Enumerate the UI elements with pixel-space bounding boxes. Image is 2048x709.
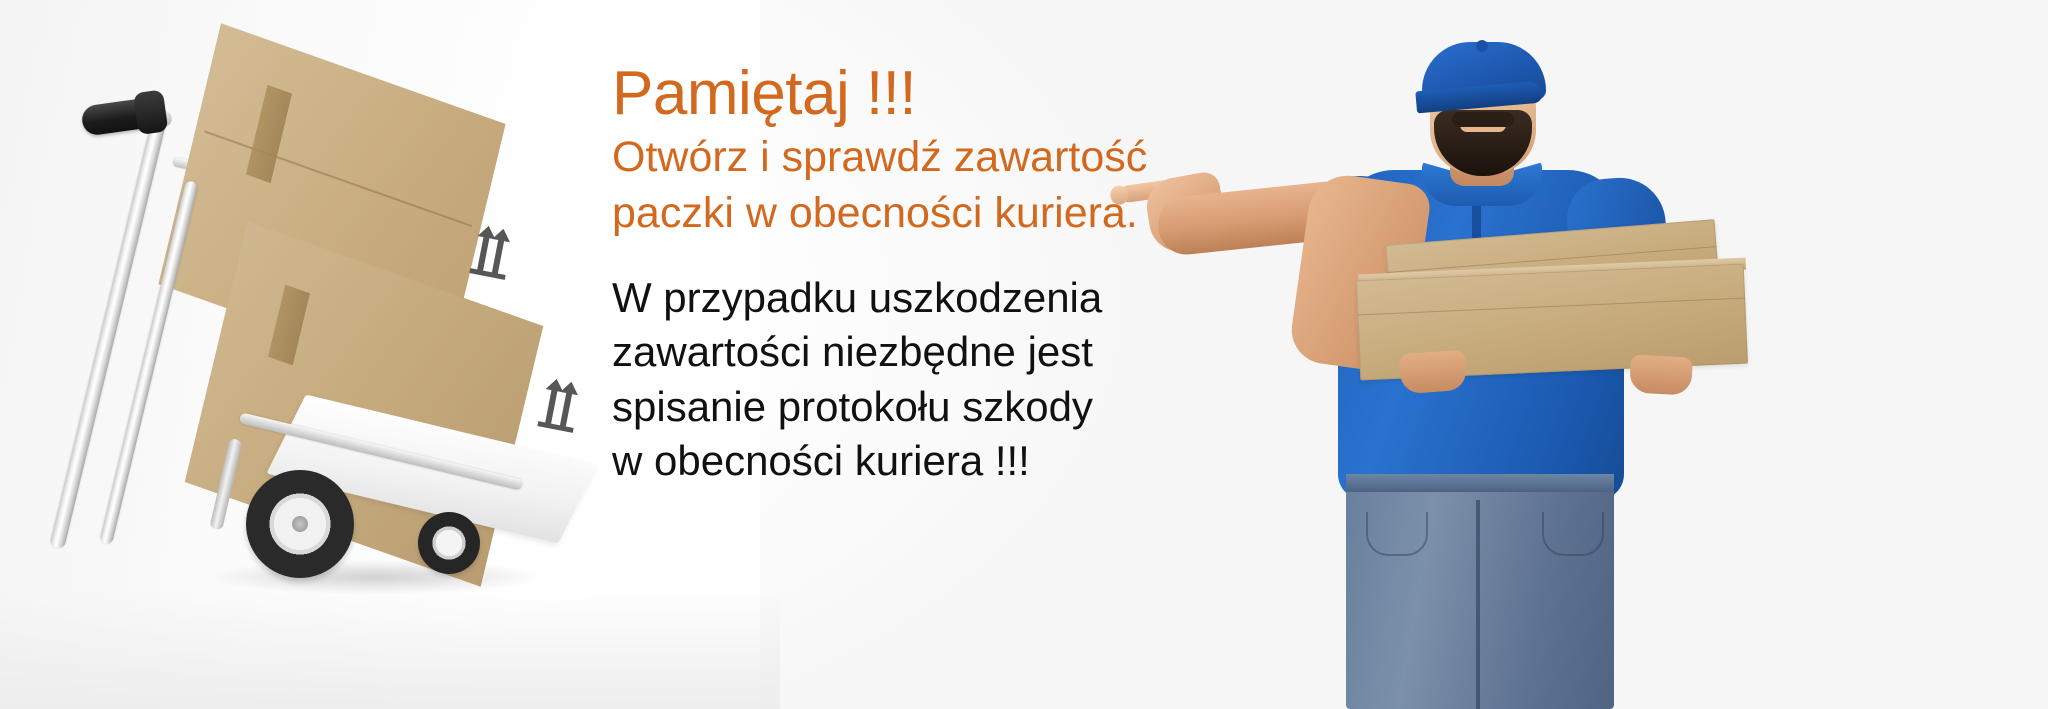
jeans-center-seam — [1476, 500, 1480, 709]
hand-truck-wheel-small — [418, 512, 480, 574]
jeans-pocket-right — [1542, 512, 1604, 556]
body-text-block: W przypadku uszkodzenia zawartości niezb… — [612, 271, 1172, 489]
courier-mustache — [1452, 112, 1514, 127]
this-way-up-arrows-icon-lower — [535, 375, 584, 434]
courier-belt — [1346, 474, 1614, 492]
body-line-1: W przypadku uszkodzenia — [612, 271, 1172, 326]
subheadline-line-1: Otwórz i sprawdź zawartość — [612, 130, 1172, 185]
ground-shadow — [210, 560, 540, 594]
hand-truck-handle-grip-icon — [80, 97, 153, 136]
hand-truck-wheel-main — [246, 470, 354, 578]
body-line-3: spisanie protokołu szkody — [612, 380, 1172, 435]
courier-hand-holding-box-right — [1629, 354, 1693, 395]
notice-copy-block: Pamiętaj !!! Otwórz i sprawdź zawartość … — [612, 62, 1172, 489]
courier-illustration — [1150, 0, 1710, 709]
jeans-pocket-left — [1366, 512, 1428, 556]
delivery-notice-banner: Pamiętaj !!! Otwórz i sprawdź zawartość … — [0, 0, 2048, 709]
this-way-up-arrows-icon — [467, 222, 516, 281]
cap-button-icon — [1476, 40, 1488, 52]
courier-hand-holding-box-left — [1399, 350, 1468, 395]
subheadline-line-2: paczki w obecności kuriera. — [612, 186, 1172, 241]
body-line-4: w obecności kuriera !!! — [612, 434, 1172, 489]
body-line-2: zawartości niezbędne jest — [612, 325, 1172, 380]
page-title: Pamiętaj !!! — [612, 62, 1172, 126]
hand-truck-rail-front — [99, 180, 198, 545]
hand-truck-illustration — [60, 40, 620, 700]
